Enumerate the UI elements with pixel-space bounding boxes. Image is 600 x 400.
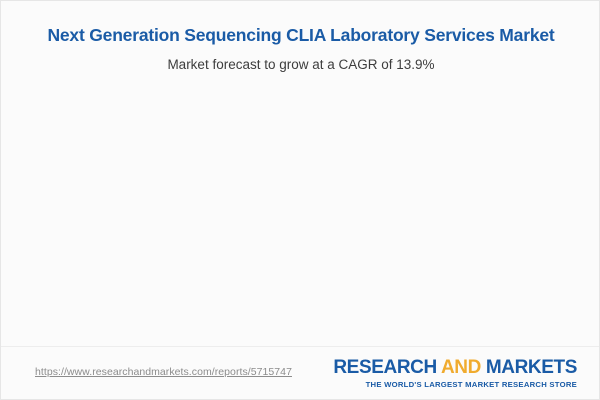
logo-word-markets: MARKETS xyxy=(486,357,577,378)
logo-word-and: AND xyxy=(441,357,481,378)
logo-wordmark: RESEARCH AND MARKETS xyxy=(333,358,577,378)
infographic-card: Next Generation Sequencing CLIA Laborato… xyxy=(0,0,600,400)
brand-logo[interactable]: RESEARCH AND MARKETS THE WORLD'S LARGEST… xyxy=(333,358,577,389)
page-title: Next Generation Sequencing CLIA Laborato… xyxy=(1,25,600,46)
chart-subtitle: Market forecast to grow at a CAGR of 13.… xyxy=(1,57,600,72)
report-url-link[interactable]: https://www.researchandmarkets.com/repor… xyxy=(35,366,292,378)
logo-word-research: RESEARCH xyxy=(333,357,436,378)
footer: https://www.researchandmarkets.com/repor… xyxy=(1,346,600,399)
chart-plot-area: USD 8.81 Billion xyxy=(1,87,600,337)
logo-tagline: THE WORLD'S LARGEST MARKET RESEARCH STOR… xyxy=(333,380,577,389)
chart-header: Next Generation Sequencing CLIA Laborato… xyxy=(1,1,600,72)
